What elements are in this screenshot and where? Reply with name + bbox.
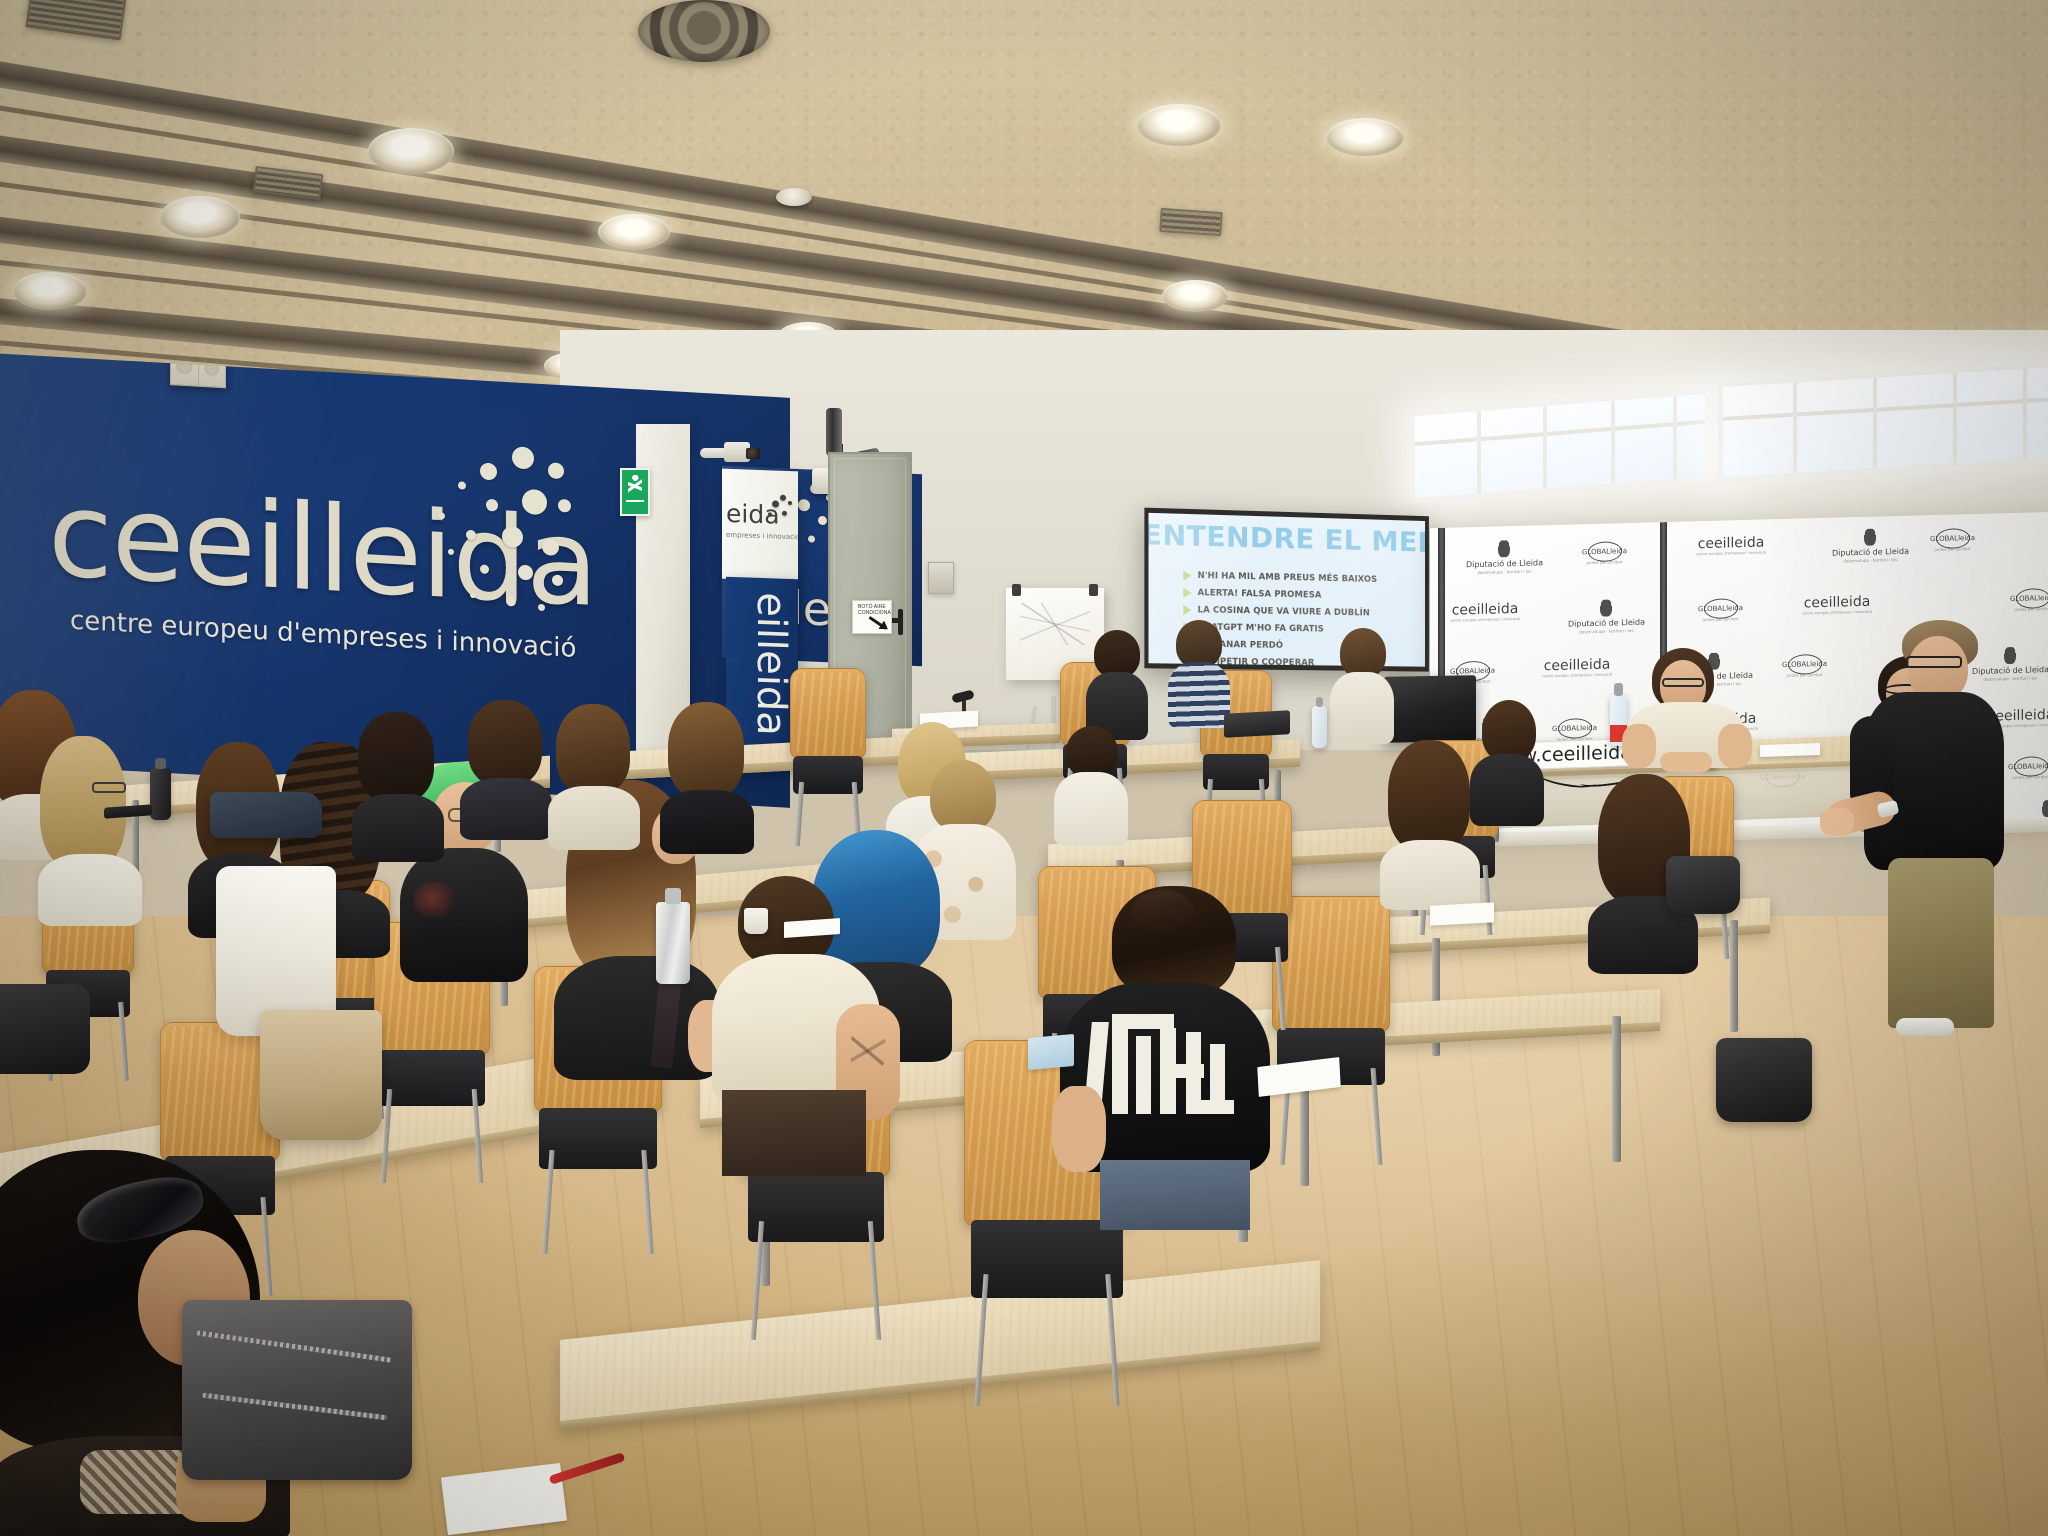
navy-bag-on-back-table[interactable] xyxy=(210,792,322,838)
flipchart-clip-left xyxy=(1012,584,1021,596)
hair xyxy=(358,712,434,802)
chair-seat xyxy=(748,1172,884,1242)
hair xyxy=(556,704,630,794)
blue-card-on-table xyxy=(1028,1034,1074,1070)
arm-left xyxy=(1622,724,1656,768)
black-bag-on-chair[interactable] xyxy=(1666,856,1740,914)
hair-bun-knot xyxy=(1132,890,1194,932)
person-attendee-left-5 xyxy=(460,700,556,840)
door-handle[interactable] xyxy=(898,609,903,635)
chair-wood-grain xyxy=(794,672,862,755)
glasses-icon xyxy=(1906,656,1962,668)
arm xyxy=(1052,1086,1106,1172)
window-mullion xyxy=(2023,369,2027,459)
chair-wood-grain xyxy=(1276,900,1386,1028)
table-leg xyxy=(1612,1016,1621,1162)
black-bottle-back-left[interactable] xyxy=(150,768,171,820)
hair xyxy=(930,760,996,832)
logo-globalleida: GLOBALleida juntes pel territori xyxy=(1930,528,1975,552)
hair xyxy=(1340,628,1386,678)
crest-icon xyxy=(2042,800,2048,817)
person-attendee-left-2 xyxy=(38,736,148,926)
logo-sub: centre europeu d'empreses i innovació xyxy=(1542,673,1612,678)
tattoo xyxy=(850,1028,886,1072)
recessed-downlight xyxy=(1162,280,1228,312)
emergency-exit-icon xyxy=(620,468,650,516)
exit-sign-lower-band xyxy=(626,500,645,510)
shoe xyxy=(1896,1018,1954,1036)
wall-box xyxy=(928,562,954,594)
table-leg xyxy=(1730,920,1738,1032)
chair-back xyxy=(790,668,866,759)
rollup-word: eida xyxy=(726,499,780,530)
torso-tank-top xyxy=(38,854,142,926)
window-mullion xyxy=(1611,401,1615,483)
tshirt-print xyxy=(414,882,454,918)
torso xyxy=(352,794,444,862)
logo-name: ceeilleida xyxy=(1544,658,1611,674)
person-presenter-standing xyxy=(1848,620,2018,1040)
logo-ceeilleida: ceeilleida centre europeu d'empreses i i… xyxy=(1696,535,1766,556)
torso xyxy=(1380,840,1480,910)
hair xyxy=(468,700,542,786)
logo-diputacio-lleida: Diputació de Lleida desenvolupa · territ… xyxy=(1568,599,1645,635)
steel-water-bottle[interactable] xyxy=(656,902,690,984)
torso xyxy=(660,790,754,854)
backpack-zipper xyxy=(197,1330,392,1362)
flipchart-clip-right xyxy=(1089,584,1098,596)
person-attendee-left-4 xyxy=(352,712,448,862)
person-attendee-back-3 xyxy=(1330,628,1396,744)
beige-bag-on-chair[interactable] xyxy=(260,1010,382,1140)
logo-globalleida: GLOBALleida juntes pel territori xyxy=(1582,541,1627,565)
hair xyxy=(1066,726,1118,778)
chair[interactable] xyxy=(790,668,866,814)
person-attendee-back-1 xyxy=(1084,630,1150,740)
notepad-on-presenter-table xyxy=(1760,743,1820,757)
logo-diputacio-lleida: Diputació de Lleida desenvolupa · territ… xyxy=(1832,528,1909,564)
monitor-panel xyxy=(1384,675,1476,743)
recessed-downlight xyxy=(1326,118,1404,156)
running-person-icon xyxy=(628,475,643,498)
glasses-icon xyxy=(92,782,126,793)
person-attendee-right-1 xyxy=(1380,740,1484,910)
door-sign-line-2: CONDICIONAT xyxy=(855,610,889,616)
hair xyxy=(1388,740,1470,852)
person-attendee-left-7 xyxy=(660,702,758,854)
grey-backpack-foreground[interactable] xyxy=(182,1300,412,1480)
logo-globalleida: GLOBALleida juntes pel territori xyxy=(1782,654,1827,678)
air-conditioning-sign: BOTÓ AIRE CONDICIONAT xyxy=(852,600,892,634)
tshirt-graphic xyxy=(1086,1014,1238,1126)
plastic-bottle-back[interactable] xyxy=(1312,706,1327,748)
logo-sub: desenvolupa · territori i tec xyxy=(1477,570,1531,575)
logo-name: ceeilleida xyxy=(1452,602,1519,618)
logo-sub: desenvolupa · territori i tec xyxy=(1843,558,1897,563)
flipchart-sketch xyxy=(1020,603,1091,645)
logo-sub: centre europeu d'empreses i innovació xyxy=(1450,618,1520,623)
recessed-downlight xyxy=(160,196,240,238)
notepad xyxy=(1430,902,1494,925)
ceiling-duct xyxy=(826,408,842,456)
torso-black-tee xyxy=(400,848,528,982)
chair-seat xyxy=(379,1050,486,1106)
window-glass xyxy=(1415,394,1705,498)
ceiling-air-vent xyxy=(1159,208,1223,236)
person-attendee-back-2 xyxy=(1168,620,1232,728)
window-mullion xyxy=(1953,373,1957,463)
chair-seat xyxy=(971,1220,1124,1298)
desktop-monitor[interactable] xyxy=(1384,675,1476,743)
person-attendee-left-6 xyxy=(548,704,644,850)
window-mullion xyxy=(1873,378,1877,468)
window-mullion xyxy=(1543,406,1547,488)
crest-icon xyxy=(1864,529,1876,546)
hair xyxy=(668,702,744,798)
laptop[interactable] xyxy=(1224,710,1290,737)
logo-sub: centre europeu d'empreses i innovació xyxy=(1696,551,1766,556)
logo-sub: desenvolupa · territori i tec xyxy=(1579,629,1633,634)
jeans xyxy=(1100,1160,1250,1230)
arrow-icon xyxy=(869,616,887,630)
logo-ceeilleida: ceeilleida centre europeu d'empreses i i… xyxy=(1802,595,1872,616)
hair-blonde-long xyxy=(40,736,126,870)
logo-globalleida: GLOBALleida juntes pel territori xyxy=(1552,718,1597,742)
rollup-banner-top: eida empreses i innovació xyxy=(722,469,798,582)
recessed-downlight xyxy=(13,272,87,310)
glasses-icon xyxy=(1662,678,1704,687)
logo-name: ceeilleida xyxy=(1804,595,1871,611)
crest-icon xyxy=(1600,599,1612,616)
clasped-hands xyxy=(1660,752,1712,772)
logo-ceeilleida: ceeilleida centre europeu d'empreses i i… xyxy=(1542,657,1612,678)
bottle-cap xyxy=(155,758,165,769)
recessed-downlight xyxy=(1137,104,1221,146)
hair xyxy=(1176,620,1222,668)
recessed-downlight xyxy=(598,214,670,250)
hand-gesture xyxy=(1820,808,1854,836)
bottle-cap xyxy=(665,888,681,904)
bottle-cap xyxy=(1316,697,1323,707)
window-glass xyxy=(1723,367,2048,477)
clerestory-window-right xyxy=(1718,362,2048,482)
skirt-dark xyxy=(722,1090,866,1176)
torso xyxy=(1054,772,1128,846)
torso xyxy=(1330,672,1394,744)
logo-sub: centre europeu d'empreses i innovació xyxy=(1802,611,1872,616)
logo-globalleida: GLOBALleida juntes pel territori xyxy=(2010,588,2048,612)
round-ceiling-diffuser xyxy=(638,0,770,62)
logo-globalleida: GLOBALleida juntes pel territori xyxy=(1698,598,1743,622)
security-camera xyxy=(700,440,764,468)
window-mullion xyxy=(1477,411,1481,493)
chair-seat xyxy=(539,1108,657,1169)
window-mullion xyxy=(1673,396,1677,478)
person-attendee-back-4 xyxy=(1054,726,1130,846)
logo-diputacio-lleida: Diputació de Lleida desenvolupa · territ… xyxy=(1466,539,1543,575)
legs-olive-pants xyxy=(1888,858,1994,1028)
paper-coffee-cup[interactable] xyxy=(744,908,768,934)
ring-icon xyxy=(2016,588,2048,609)
logo-name: ceeilleida xyxy=(1698,535,1765,551)
person-panelist-seated-left xyxy=(1622,648,1752,768)
hair xyxy=(1482,700,1536,762)
torso xyxy=(460,778,552,840)
backpack-zipper xyxy=(202,1393,387,1421)
crest-icon xyxy=(1498,540,1510,557)
black-bag-foreground-left[interactable] xyxy=(0,984,90,1074)
torso-striped xyxy=(1168,662,1230,728)
rollup-tagline: empreses i innovació xyxy=(726,531,798,542)
smoke-detector xyxy=(776,188,812,206)
classroom-photo: ceeilleida centre europeu d'empreses i i… xyxy=(0,0,2048,1536)
recessed-downlight xyxy=(368,128,454,174)
black-bag-floor[interactable] xyxy=(1716,1038,1812,1122)
hair xyxy=(1094,630,1140,678)
torso xyxy=(548,786,640,850)
arm-right xyxy=(1718,724,1752,768)
logo-ceeilleida: ceeilleida centre europeu d'empreses i i… xyxy=(1450,602,1520,623)
ceeilleida-dot-cloud xyxy=(362,432,572,634)
person-attendee-graphic-tee xyxy=(1060,886,1280,1226)
camera-lens-icon xyxy=(746,448,760,459)
window-mullion xyxy=(1793,383,1797,473)
